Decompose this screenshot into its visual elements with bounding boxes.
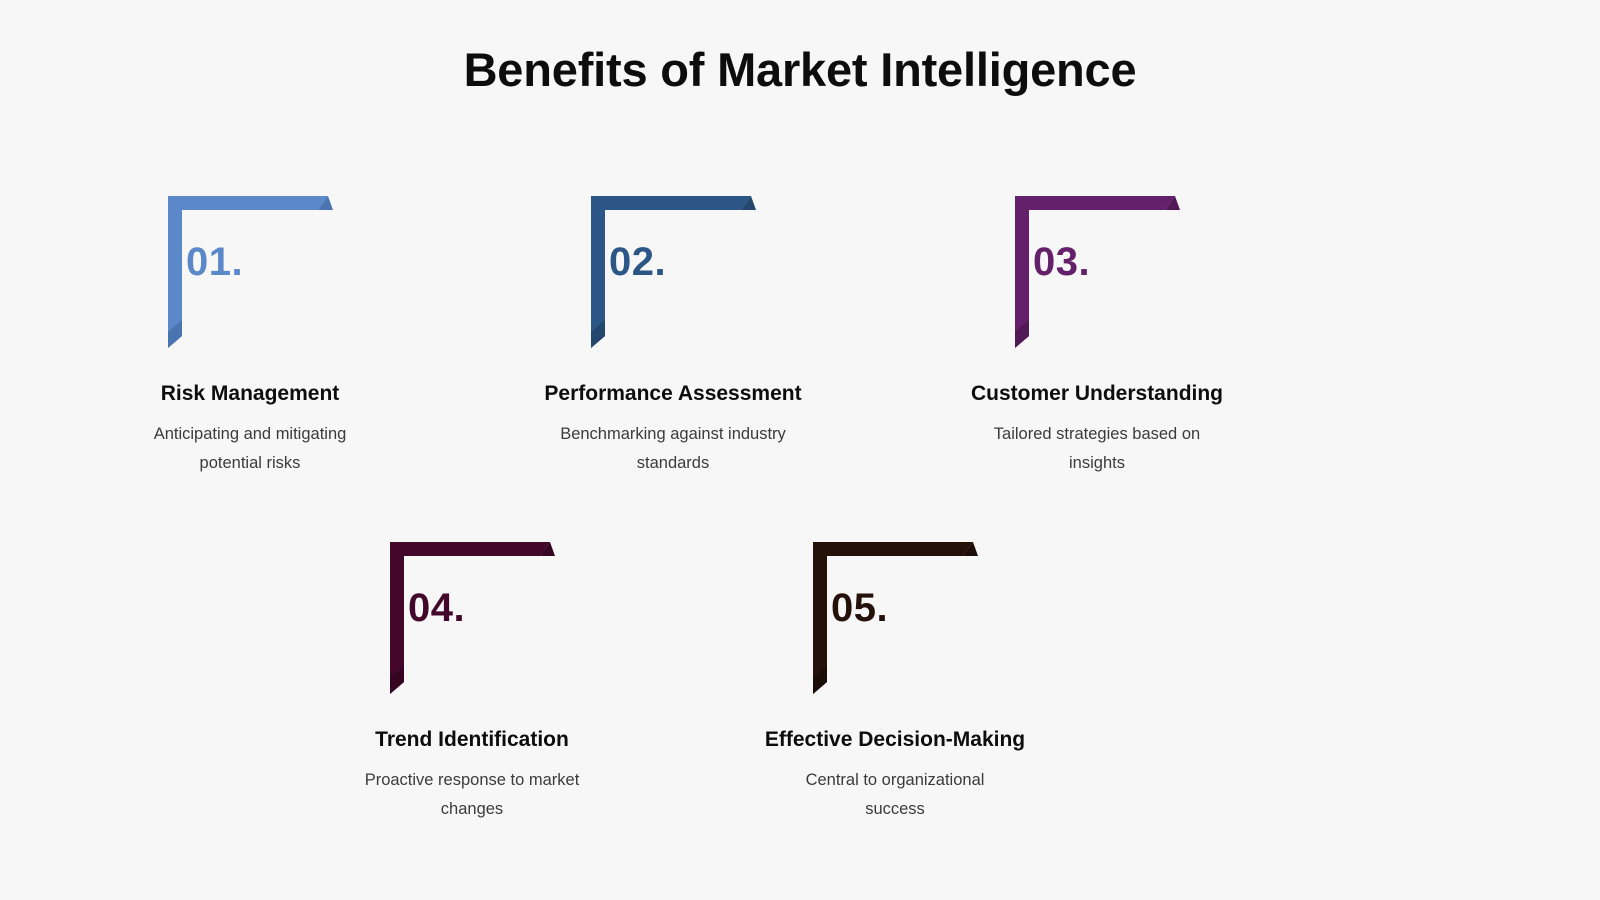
card-number-4: 04.: [408, 586, 465, 631]
card-graphic-3: 03.: [937, 188, 1257, 356]
card-graphic-5: 05.: [735, 534, 1055, 702]
card-description-line-1: Anticipating and mitigating: [120, 420, 380, 449]
card-description-1: Anticipating and mitigating potential ri…: [120, 420, 380, 478]
card-description-2: Benchmarking against industry standards: [543, 420, 803, 478]
card-number-5: 05.: [831, 586, 888, 631]
card-description-3: Tailored strategies based on insights: [967, 420, 1227, 478]
benefit-card-2: 02. Performance Assessment Benchmarking …: [513, 188, 833, 478]
corner-bracket-icon: [312, 534, 632, 702]
card-description-line-2: changes: [342, 795, 602, 824]
card-description-5: Central to organizational success: [765, 766, 1025, 824]
card-title-1: Risk Management: [90, 382, 410, 406]
corner-bracket-icon: [513, 188, 833, 356]
card-description-line-1: Tailored strategies based on: [967, 420, 1227, 449]
benefit-card-4: 04. Trend Identification Proactive respo…: [312, 534, 632, 824]
card-number-3: 03.: [1033, 240, 1090, 285]
infographic-root: Benefits of Market Intelligence 01. Risk…: [0, 0, 1600, 900]
card-title-5: Effective Decision-Making: [735, 728, 1055, 752]
corner-bracket-icon: [937, 188, 1257, 356]
card-title-3: Customer Understanding: [937, 382, 1257, 406]
card-number-2: 02.: [609, 240, 666, 285]
benefit-card-3: 03. Customer Understanding Tailored stra…: [937, 188, 1257, 478]
card-description-line-2: success: [765, 795, 1025, 824]
corner-bracket-icon: [90, 188, 410, 356]
card-description-line-2: potential risks: [120, 449, 380, 478]
card-graphic-1: 01.: [90, 188, 410, 356]
page-title: Benefits of Market Intelligence: [0, 42, 1600, 97]
card-title-4: Trend Identification: [312, 728, 632, 752]
card-description-line-2: standards: [543, 449, 803, 478]
card-graphic-4: 04.: [312, 534, 632, 702]
benefit-card-5: 05. Effective Decision-Making Central to…: [735, 534, 1055, 824]
card-description-4: Proactive response to market changes: [342, 766, 602, 824]
benefit-card-1: 01. Risk Management Anticipating and mit…: [90, 188, 410, 478]
card-title-2: Performance Assessment: [513, 382, 833, 406]
card-description-line-1: Proactive response to market: [342, 766, 602, 795]
card-graphic-2: 02.: [513, 188, 833, 356]
card-description-line-1: Central to organizational: [765, 766, 1025, 795]
card-number-1: 01.: [186, 240, 243, 285]
card-description-line-2: insights: [967, 449, 1227, 478]
card-description-line-1: Benchmarking against industry: [543, 420, 803, 449]
corner-bracket-icon: [735, 534, 1055, 702]
